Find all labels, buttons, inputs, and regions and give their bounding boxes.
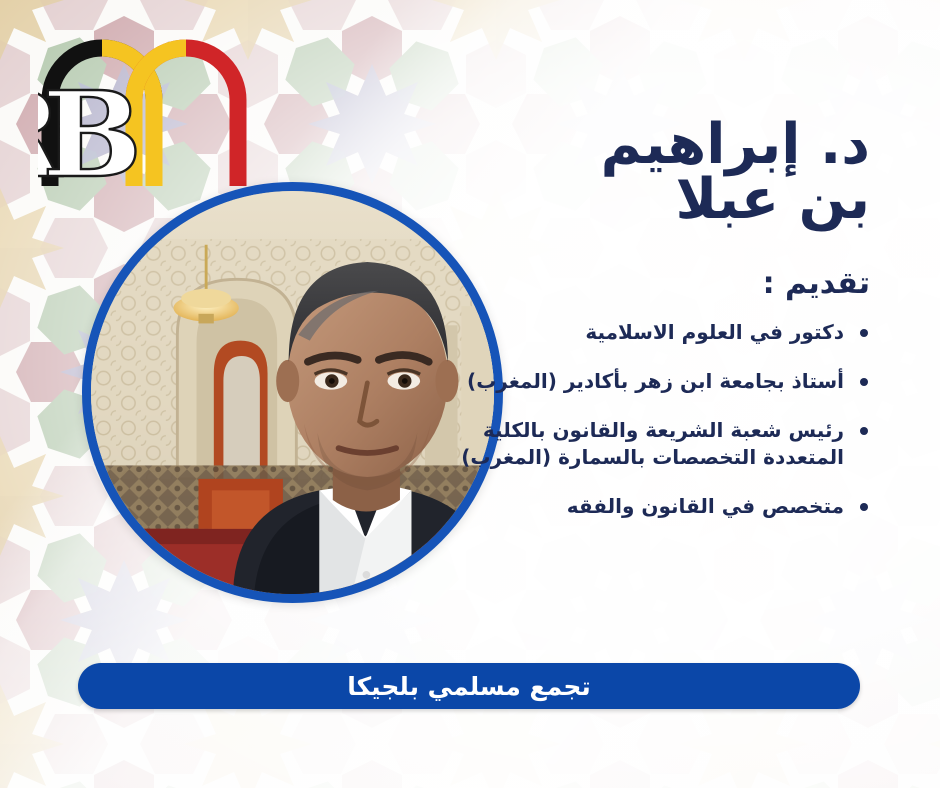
- bio-item-text: دكتور في العلوم الاسلامية: [585, 320, 844, 344]
- speaker-portrait: [82, 182, 503, 603]
- bio-list: دكتور في العلوم الاسلامية أستاذ بجامعة ا…: [450, 319, 870, 520]
- organization-logo: R B: [38, 28, 250, 188]
- poster-canvas: R B: [0, 0, 940, 788]
- bio-item-text: متخصص في القانون والفقه: [567, 494, 844, 518]
- bullet-dot-icon: [860, 503, 868, 511]
- speaker-name-line-1: د. إبراهيم: [450, 118, 870, 173]
- organization-banner-text: تجمع مسلمي بلجيكا: [347, 672, 591, 701]
- bio-item-text: رئيس شعبة الشريعة والقانون بالكلية المتع…: [461, 418, 844, 469]
- organization-banner: تجمع مسلمي بلجيكا: [78, 663, 860, 709]
- speaker-name-line-2: بن عبلا: [450, 173, 870, 228]
- bio-list-item: أستاذ بجامعة ابن زهر بأكادير (المغرب): [450, 368, 870, 395]
- bio-section-label: تقديم :: [450, 266, 870, 301]
- bio-item-text: أستاذ بجامعة ابن زهر بأكادير (المغرب): [467, 369, 844, 393]
- logo-letter-b: B: [42, 65, 142, 188]
- bullet-dot-icon: [860, 329, 868, 337]
- bullet-dot-icon: [860, 378, 868, 386]
- bio-list-item: متخصص في القانون والفقه: [450, 493, 870, 520]
- bullet-dot-icon: [860, 427, 868, 435]
- bio-list-item: رئيس شعبة الشريعة والقانون بالكلية المتع…: [450, 417, 870, 471]
- speaker-info-block: د. إبراهيم بن عبلا تقديم : دكتور في العل…: [450, 118, 870, 542]
- bio-list-item: دكتور في العلوم الاسلامية: [450, 319, 870, 346]
